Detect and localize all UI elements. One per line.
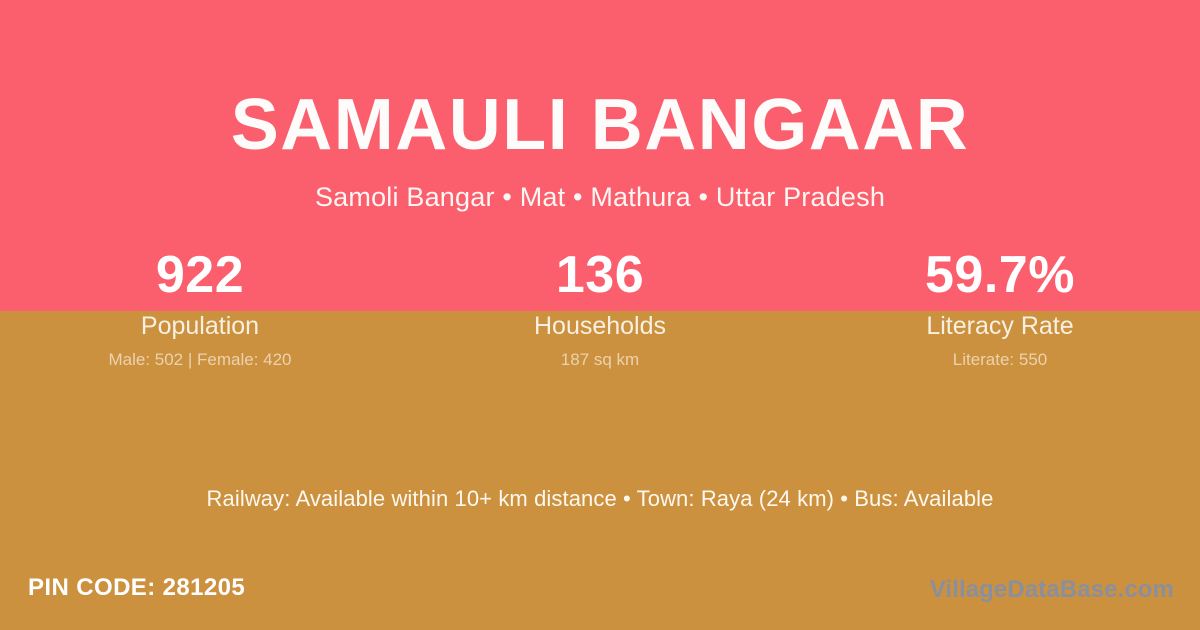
stat-value: 136 [400,244,800,306]
stats-row: 922 Population Male: 502 | Female: 420 1… [0,244,1200,371]
card-header: SAMAULI BANGAAR Samoli Bangar • Mat • Ma… [0,0,1200,214]
stat-label: Households [400,310,800,342]
stat-subtext: 187 sq km [400,349,800,371]
pin-code: PIN CODE: 281205 [28,572,245,604]
stat-value: 922 [0,244,400,306]
stat-value: 59.7% [800,244,1200,306]
stat-label: Population [0,310,400,342]
stat-label: Literacy Rate [800,310,1200,342]
page-title: SAMAULI BANGAAR [0,0,1200,168]
village-info-card: SAMAULI BANGAAR Samoli Bangar • Mat • Ma… [0,0,1200,630]
breadcrumb: Samoli Bangar • Mat • Mathura • Uttar Pr… [0,168,1200,214]
stat-households: 136 Households 187 sq km [400,244,800,371]
stat-literacy-rate: 59.7% Literacy Rate Literate: 550 [800,244,1200,371]
stat-population: 922 Population Male: 502 | Female: 420 [0,244,400,371]
site-brand: VillageDataBase.com [930,574,1174,606]
stat-subtext: Literate: 550 [800,349,1200,371]
infrastructure-summary: Railway: Available within 10+ km distanc… [0,484,1200,514]
stat-subtext: Male: 502 | Female: 420 [0,349,400,371]
